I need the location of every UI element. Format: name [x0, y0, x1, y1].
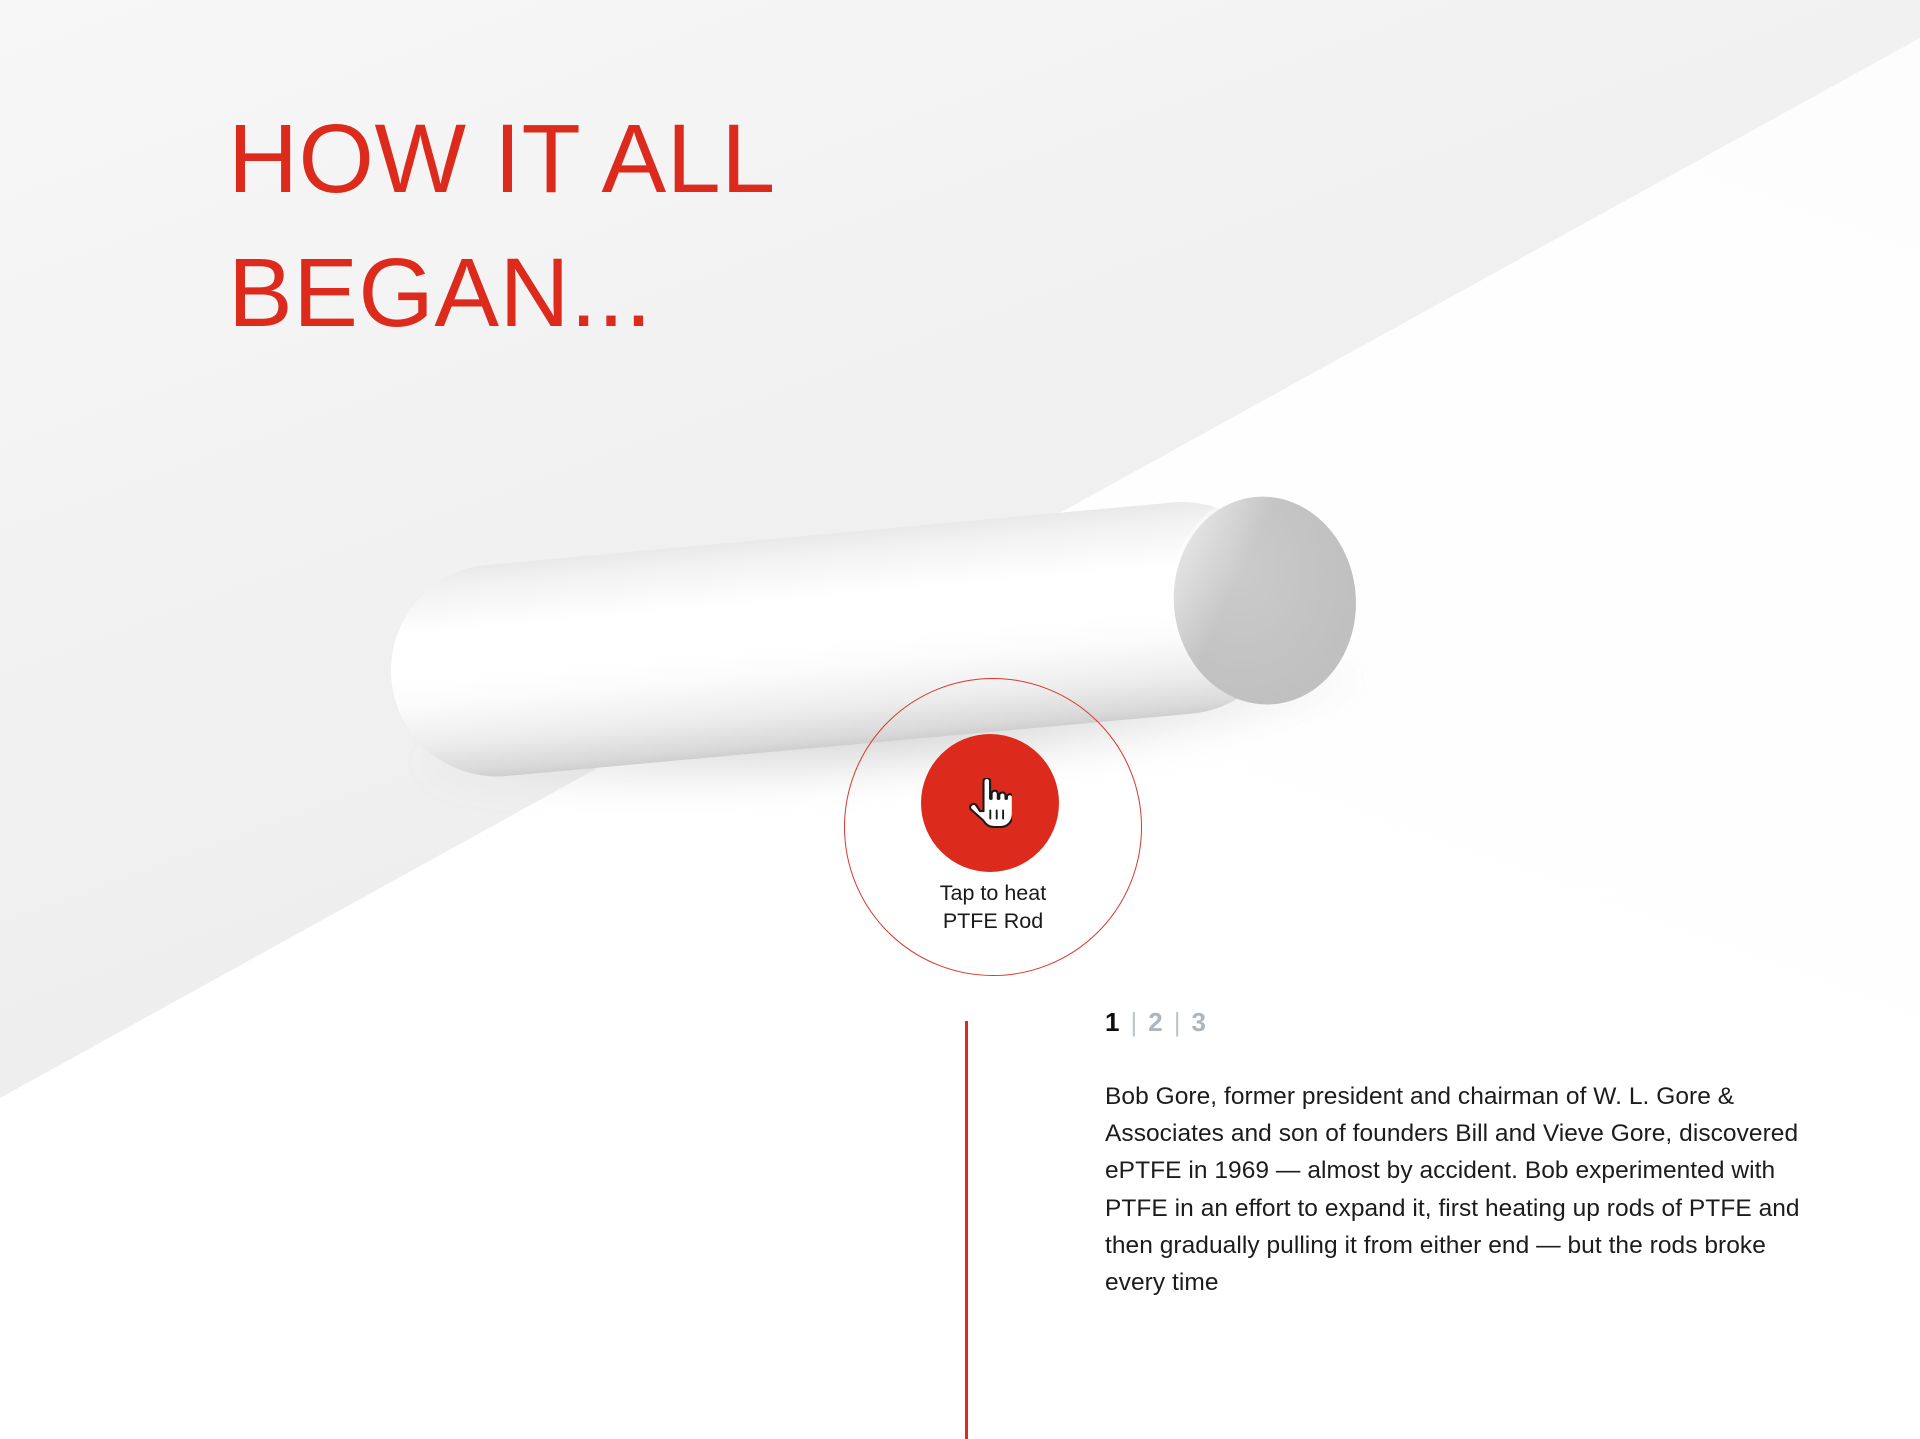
pagination-item-1[interactable]: 1: [1105, 1007, 1119, 1038]
pagination-separator: |: [1130, 1007, 1137, 1038]
pagination-item-3[interactable]: 3: [1191, 1007, 1205, 1038]
red-vertical-divider: [965, 1021, 968, 1439]
tap-to-heat-label: Tap to heat PTFE Rod: [844, 880, 1142, 935]
pointing-hand-cursor-icon: [968, 778, 1012, 828]
pagination: 1 | 2 | 3: [1105, 1007, 1206, 1038]
pagination-separator: |: [1174, 1007, 1181, 1038]
page-title: HOW IT ALL BEGAN...: [228, 92, 1048, 360]
slide-stage: HOW IT ALL BEGAN... Tap to heat PTFE Rod…: [0, 0, 1920, 1439]
body-paragraph: Bob Gore, former president and chairman …: [1105, 1078, 1805, 1301]
pagination-item-2[interactable]: 2: [1148, 1007, 1162, 1038]
tap-to-heat-button[interactable]: [921, 734, 1059, 872]
